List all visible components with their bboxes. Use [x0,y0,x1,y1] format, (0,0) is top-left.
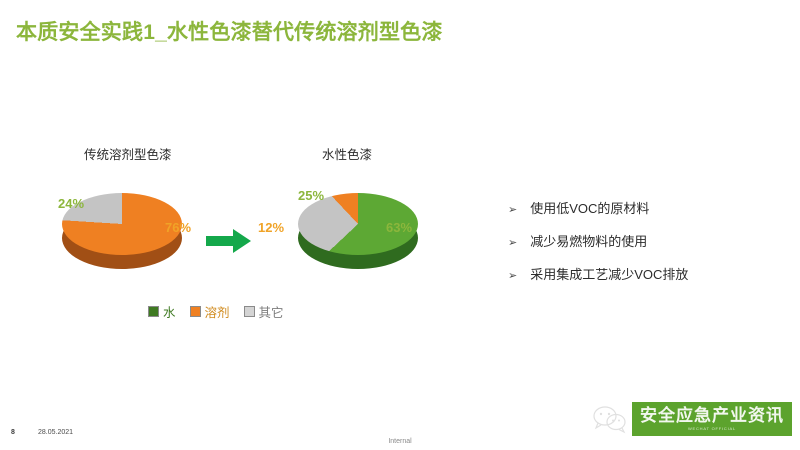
list-item: ➢ 减少易燃物料的使用 [508,231,788,250]
footer-page-number: 8 [11,429,15,436]
slide-canvas: 本质安全实践1_水性色漆替代传统溶剂型色漆 传统溶剂型色漆 水性色漆 24% 7… [0,0,800,450]
legend-item-water: 水 [148,302,176,321]
list-item-label: 减少易燃物料的使用 [530,231,647,250]
arrow-bullet-icon: ➢ [508,238,517,249]
pie-label-right-solvent: 12% [258,220,284,235]
pie-chart-water-based [298,193,418,279]
pie-label-left-other: 24% [58,196,84,211]
legend-swatch-water [148,306,159,317]
list-item: ➢ 使用低VOC的原材料 [508,198,788,217]
watermark-subtext: WECHAT OFFICIAL [688,426,736,431]
arrow-bullet-icon: ➢ [508,205,517,216]
legend-label-solvent: 溶剂 [205,302,230,321]
pie-label-right-other: 25% [298,188,324,203]
list-item-label: 使用低VOC的原材料 [530,198,649,217]
pie-caption-solvent-based: 传统溶剂型色漆 [84,144,172,163]
charts-region: 传统溶剂型色漆 水性色漆 24% 76% 25% 12% 63% 水 [0,130,470,330]
arrow-bullet-icon: ➢ [508,271,517,282]
pie-caption-water-based: 水性色漆 [322,144,372,163]
legend-swatch-solvent [190,306,201,317]
list-item-label: 采用集成工艺减少VOC排放 [530,264,688,283]
footer-classification-label: Internal [0,438,800,445]
watermark-text: 安全应急产业资讯 [640,407,784,424]
legend-label-water: 水 [163,302,176,321]
watermark: 安全应急产业资讯 WECHAT OFFICIAL [592,402,792,436]
list-item: ➢ 采用集成工艺减少VOC排放 [508,264,788,283]
pie-label-left-solvent: 76% [165,220,191,235]
legend-swatch-other [244,306,255,317]
right-arrow-icon [206,228,252,254]
pie-label-right-water: 63% [386,220,412,235]
chart-legend: 水 溶剂 其它 [148,302,284,321]
watermark-band: 安全应急产业资讯 WECHAT OFFICIAL [632,402,792,436]
legend-label-other: 其它 [259,302,284,321]
wechat-icon [592,404,628,434]
footer-date: 28.05.2021 [38,429,73,436]
legend-item-other: 其它 [244,302,284,321]
legend-item-solvent: 溶剂 [190,302,230,321]
page-title: 本质安全实践1_水性色漆替代传统溶剂型色漆 [16,16,443,46]
bullet-list: ➢ 使用低VOC的原材料 ➢ 减少易燃物料的使用 ➢ 采用集成工艺减少VOC排放 [508,198,788,297]
